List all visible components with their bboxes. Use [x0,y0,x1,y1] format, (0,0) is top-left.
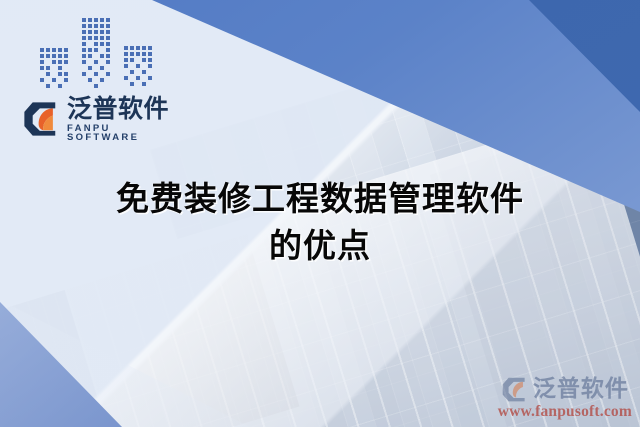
fanpu-hexagon-swoosh-icon [22,100,60,138]
brand-lockup: 泛普软件 FANPU SOFTWARE [22,96,187,143]
promo-banner: 泛普软件 FANPU SOFTWARE 免费装修工程数据管理软件 的优点 泛普软… [0,0,640,427]
watermark-lockup: 泛普软件 [501,376,629,403]
watermark-url: www.fanpusoft.com [498,404,632,420]
logo-text-cn: 泛普软件 [67,96,187,122]
logo-text-en: FANPU SOFTWARE [67,124,187,143]
fanpu-hexagon-swoosh-icon [501,376,528,403]
brand-logo-block: 泛普软件 FANPU SOFTWARE [22,16,187,141]
watermark: 泛普软件 www.fanpusoft.com [498,376,632,420]
headline-line-2: 的优点 [0,223,640,270]
banner-headline: 免费装修工程数据管理软件 的优点 [0,176,640,270]
pixel-city-skyline-icon [36,16,176,92]
watermark-text: 泛普软件 [533,378,629,401]
headline-line-1: 免费装修工程数据管理软件 [116,179,524,218]
